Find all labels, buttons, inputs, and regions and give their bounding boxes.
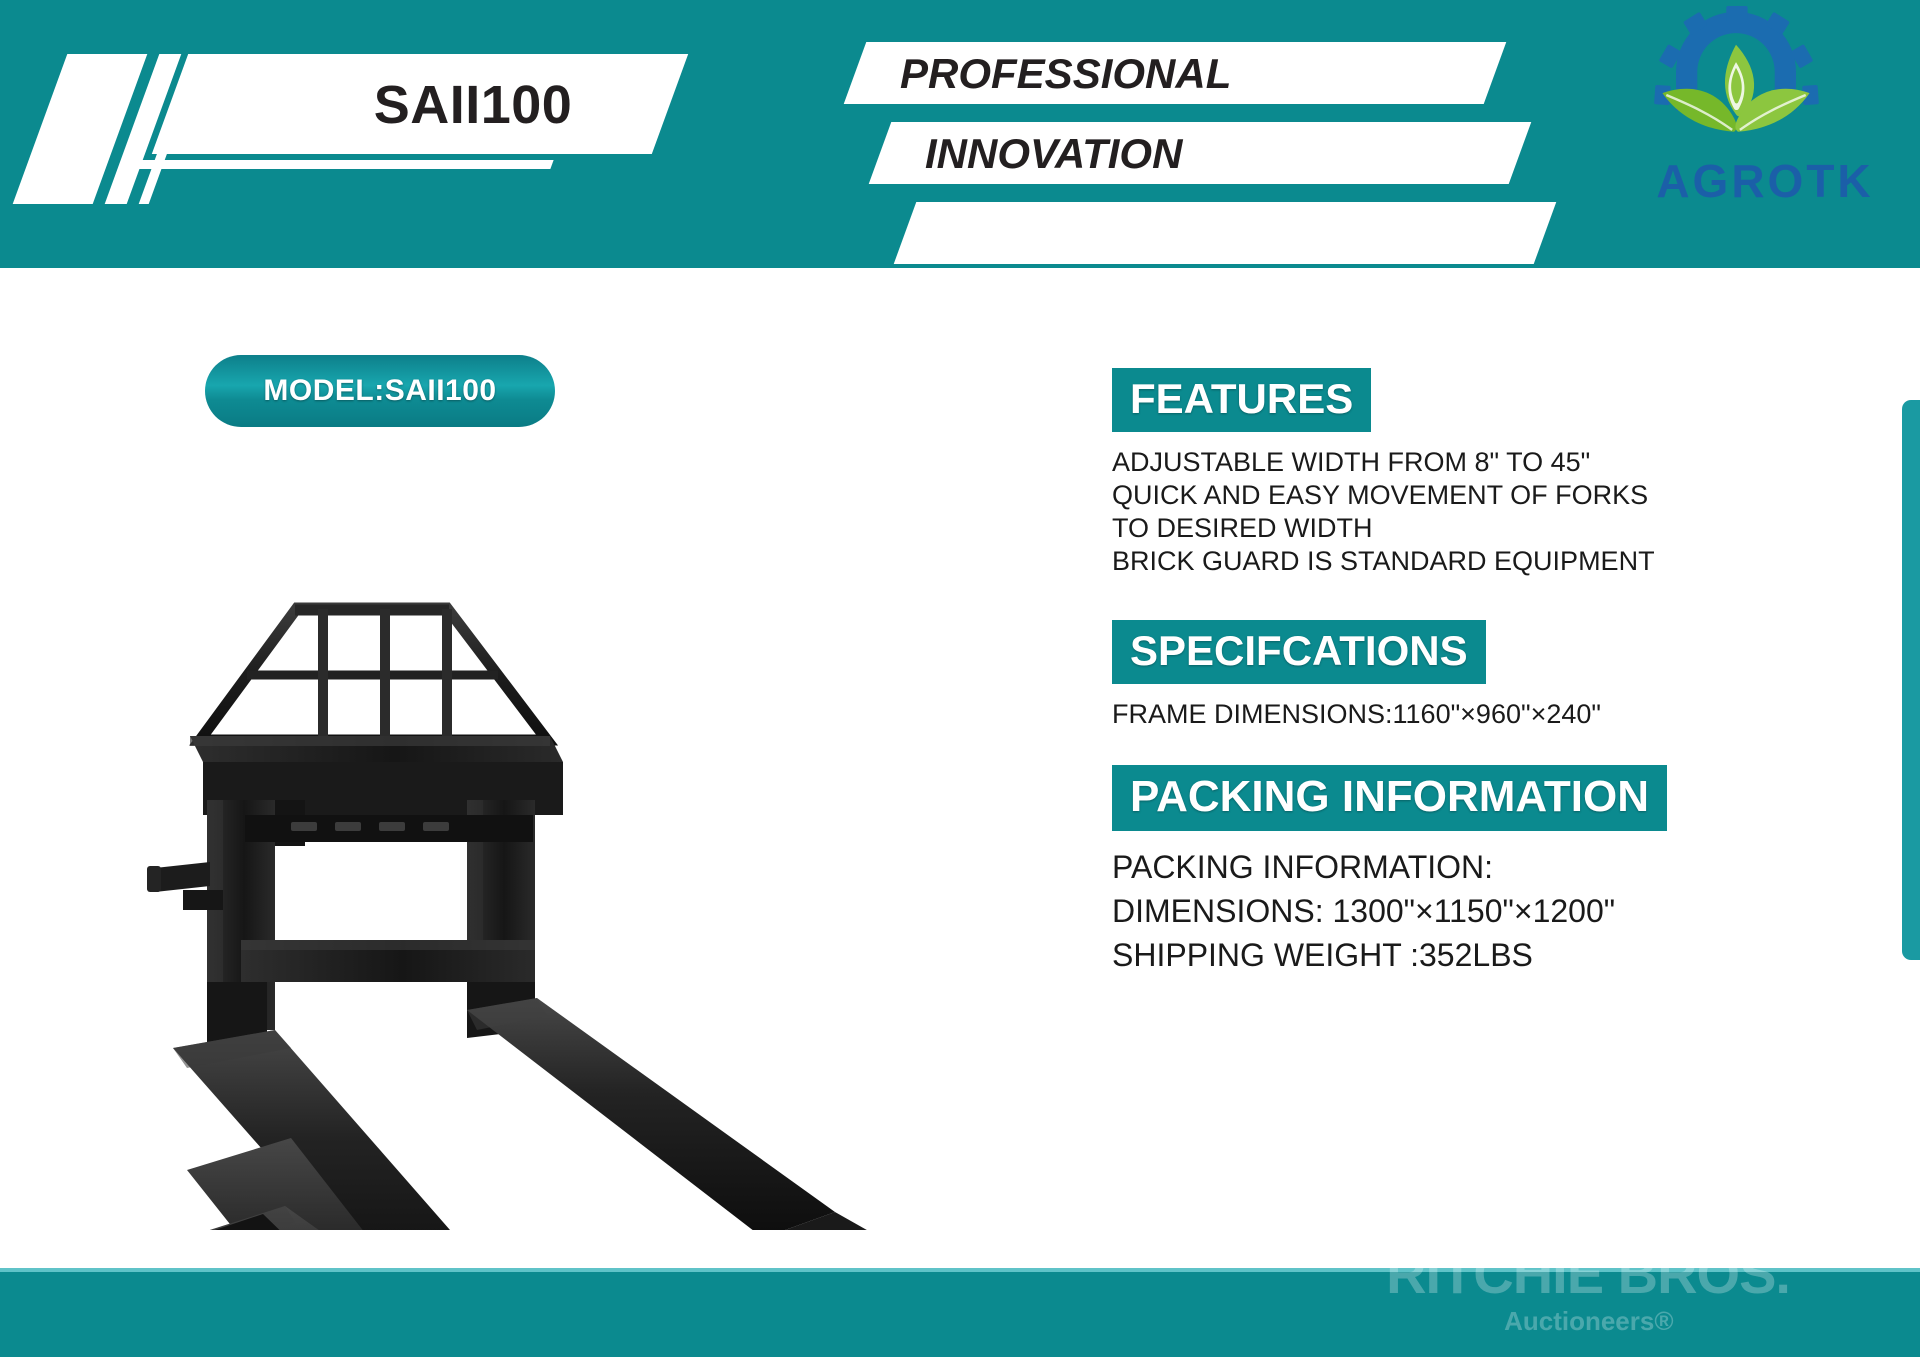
packing-line: DIMENSIONS: 1300"×1150"×1200" — [1112, 889, 1812, 933]
specifications-heading: SPECIFCATIONS — [1112, 620, 1486, 684]
packing-line: SHIPPING WEIGHT :352LBS — [1112, 933, 1812, 977]
features-line: TO DESIRED WIDTH — [1112, 512, 1812, 545]
packing-heading: PACKING INFORMATION — [1112, 765, 1667, 831]
specifications-line: FRAME DIMENSIONS:1160"×960"×240" — [1112, 698, 1812, 731]
auction-watermark: RITCHIE BROS. Auctioneers® — [1386, 1268, 1790, 1334]
product-image — [95, 470, 975, 1230]
spec-info-column: FEATURES ADJUSTABLE WIDTH FROM 8" TO 45"… — [1112, 368, 1812, 977]
footer-accent-line — [0, 1268, 1920, 1272]
features-line: BRICK GUARD IS STANDARD EQUIPMENT — [1112, 545, 1812, 578]
features-body: ADJUSTABLE WIDTH FROM 8" TO 45" QUICK AN… — [1112, 446, 1812, 578]
specifications-body: FRAME DIMENSIONS:1160"×960"×240" — [1112, 698, 1812, 731]
packing-line: PACKING INFORMATION: — [1112, 845, 1812, 889]
model-badge-label: MODEL:SAII100 — [263, 374, 496, 408]
watermark-brand: RITCHIE BROS. — [1386, 1268, 1790, 1302]
watermark-subtitle: Auctioneers® — [1504, 1308, 1790, 1334]
tagline-professional: PROFESSIONAL — [900, 50, 1231, 98]
page-title: SAII100 — [283, 66, 663, 144]
features-line: QUICK AND EASY MOVEMENT OF FORKS — [1112, 479, 1812, 512]
tagline-banner-3 — [894, 202, 1557, 264]
brand-name: AGROTK — [1620, 154, 1910, 208]
product-spec-sheet: SAII100 PROFESSIONAL INNOVATION — [0, 0, 1920, 1357]
model-badge: MODEL:SAII100 — [205, 355, 555, 427]
features-heading: FEATURES — [1112, 368, 1371, 432]
title-underline-bar — [120, 160, 553, 169]
page-header: SAII100 PROFESSIONAL INNOVATION — [0, 0, 1920, 268]
tagline-innovation: INNOVATION — [925, 130, 1182, 178]
gear-leaf-logo-icon — [1638, 6, 1834, 156]
brand-logo: AGROTK — [1620, 6, 1910, 221]
page-footer: RITCHIE BROS. Auctioneers® — [0, 1268, 1920, 1357]
features-line: ADJUSTABLE WIDTH FROM 8" TO 45" — [1112, 446, 1812, 479]
side-edge-tab — [1902, 400, 1920, 960]
packing-body: PACKING INFORMATION: DIMENSIONS: 1300"×1… — [1112, 845, 1812, 977]
